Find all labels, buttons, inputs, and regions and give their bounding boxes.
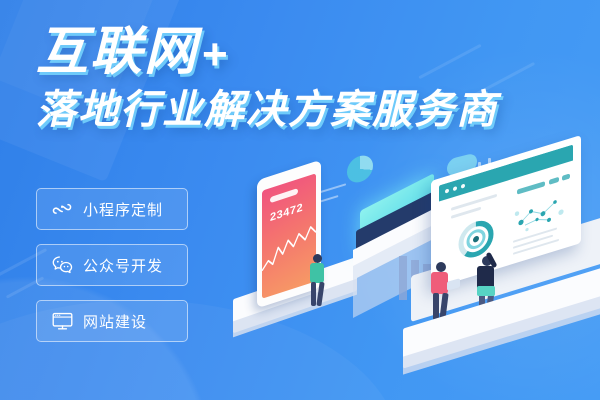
right-plinth (403, 298, 600, 358)
headline-plus-symbol: + (202, 30, 230, 79)
wechat-miniprogram-icon (50, 197, 74, 221)
wechat-logo-icon (50, 253, 74, 277)
feature-button-list: 小程序定制 公众号开发 (36, 188, 188, 356)
feature-button-website[interactable]: 网站建设 (36, 300, 188, 342)
feature-button-website-label: 网站建设 (83, 311, 147, 332)
hero-illustration: 23472 (235, 150, 600, 400)
phone-metric-value: 23472 (270, 201, 303, 224)
dashboard-chip-3 (562, 173, 570, 180)
feature-button-miniprogram[interactable]: 小程序定制 (36, 188, 188, 230)
dashboard-header-bar (439, 145, 573, 202)
pie-chart-decoration (347, 153, 373, 185)
feature-button-miniprogram-label: 小程序定制 (83, 199, 163, 220)
dashboard-scatter-chart (511, 190, 567, 237)
headline-block: 互联网+ 落地行业解决方案服务商 (36, 26, 498, 130)
phone-title-placeholder (270, 188, 298, 203)
person-dark-folder (477, 286, 495, 296)
marketing-banner: 互联网+ 落地行业解决方案服务商 小程序定制 (0, 0, 600, 400)
dashboard-chip-1 (517, 181, 545, 195)
headline-line-2: 落地行业解决方案服务商 (36, 90, 498, 130)
headline-line-1: 互联网+ (36, 26, 498, 78)
headline-line-1-text: 互联网 (36, 23, 198, 81)
feature-button-official-account-label: 公众号开发 (83, 255, 163, 276)
monitor-icon (50, 309, 74, 333)
person-phone-user (307, 254, 329, 308)
feature-button-official-account[interactable]: 公众号开发 (36, 244, 188, 286)
dashboard-chip-2 (549, 177, 559, 185)
